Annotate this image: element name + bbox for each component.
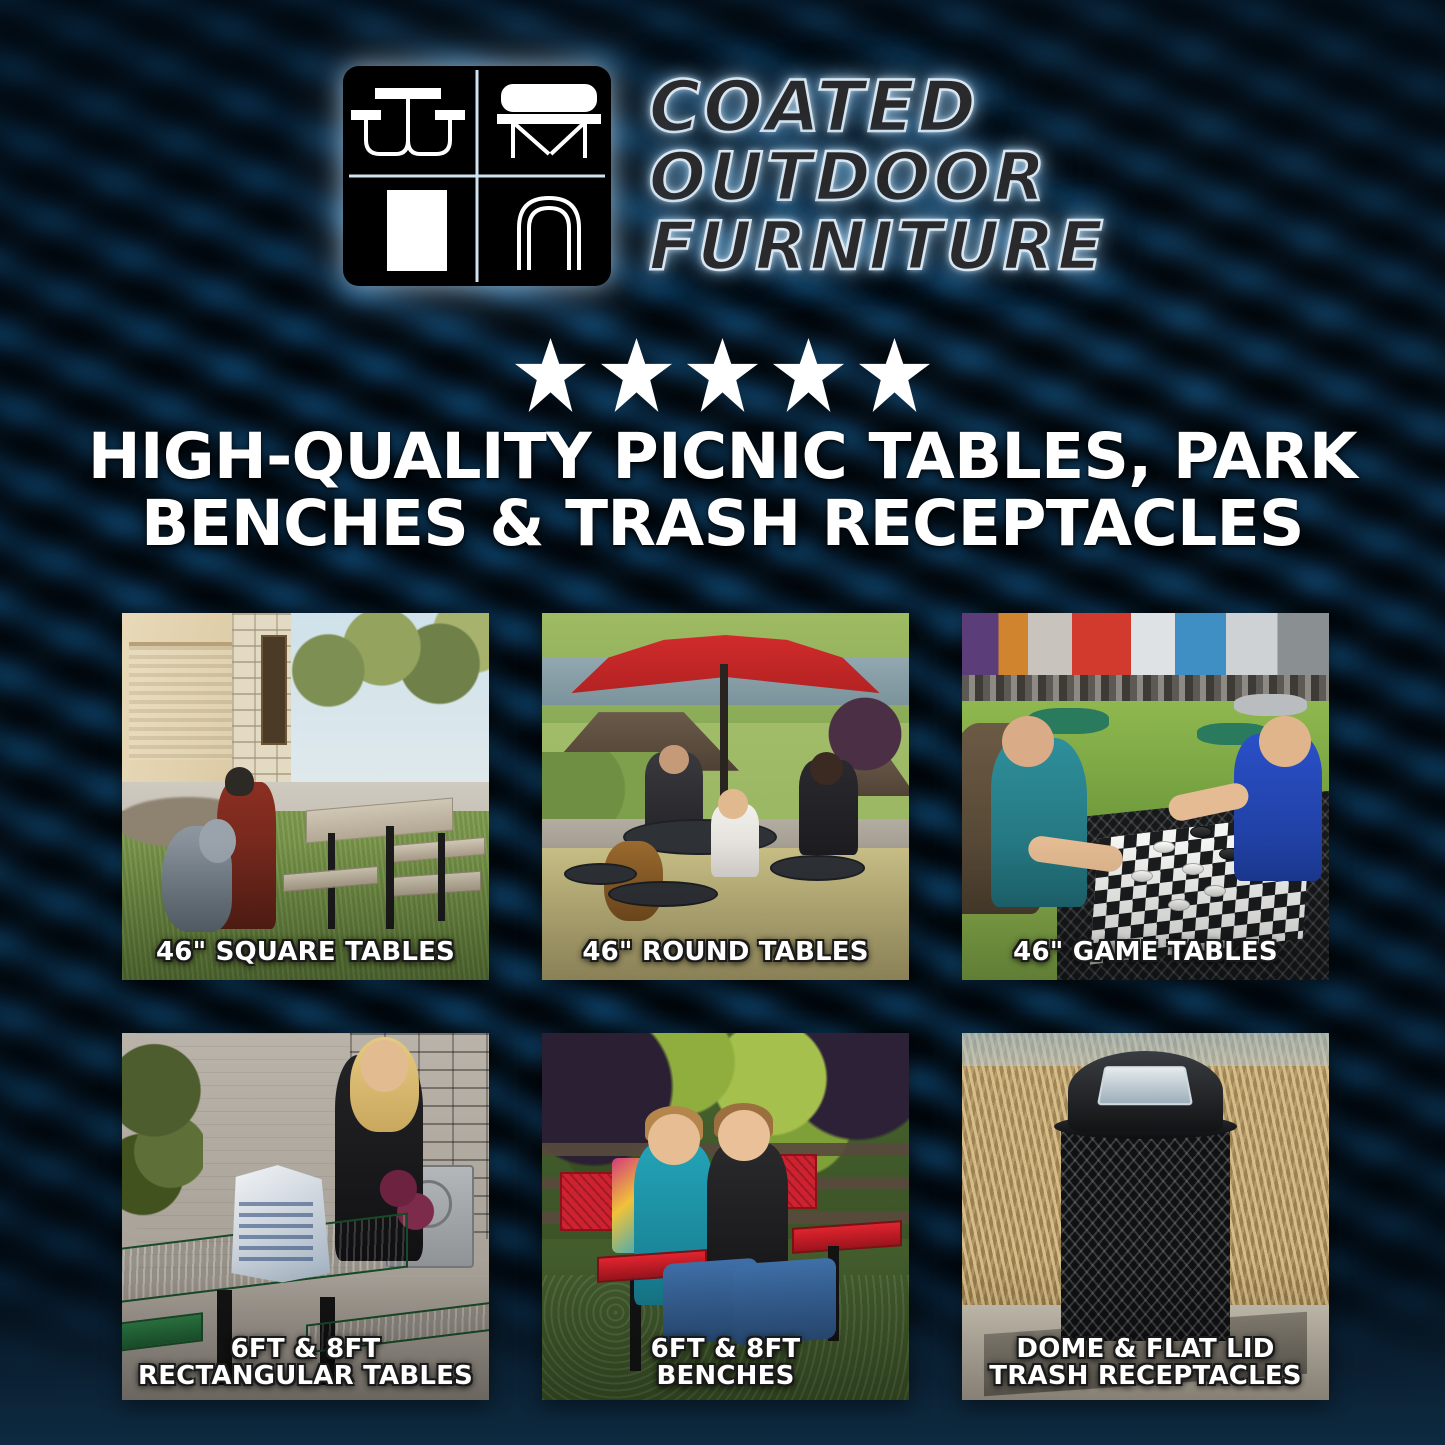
caption-line-2: BENCHES bbox=[542, 1363, 909, 1390]
product-tile-game-tables[interactable]: 46" GAME TABLES bbox=[962, 613, 1329, 980]
caption-line-2: TRASH RECEPTACLES bbox=[962, 1363, 1329, 1390]
brand-logo: COATED OUTDOOR FURNITURE bbox=[0, 62, 1445, 290]
caption-line-1: 46" ROUND TABLES bbox=[542, 939, 909, 966]
tile-caption: 46" SQUARE TABLES bbox=[122, 939, 489, 966]
product-tile-round-tables[interactable]: 46" ROUND TABLES bbox=[542, 613, 909, 980]
photo-round-tables bbox=[542, 613, 909, 980]
tile-caption: 6FT & 8FT RECTANGULAR TABLES bbox=[122, 1336, 489, 1390]
star-icon bbox=[858, 338, 932, 412]
four-quadrant-furniture-icon bbox=[339, 62, 615, 290]
caption-line-2: RECTANGULAR TABLES bbox=[122, 1363, 489, 1390]
page-title: HIGH-QUALITY PICNIC TABLES, PARK BENCHES… bbox=[0, 424, 1445, 558]
tile-caption: 46" GAME TABLES bbox=[962, 939, 1329, 966]
tile-caption: 6FT & 8FT BENCHES bbox=[542, 1336, 909, 1390]
product-grid: 46" SQUARE TABLES 46" ROUND TABLES bbox=[122, 613, 1333, 1400]
tile-caption: DOME & FLAT LID TRASH RECEPTACLES bbox=[962, 1336, 1329, 1390]
headline-line-1: HIGH-QUALITY PICNIC TABLES, PARK bbox=[70, 424, 1375, 491]
caption-line-1: DOME & FLAT LID bbox=[962, 1336, 1329, 1363]
photo-square-tables bbox=[122, 613, 489, 980]
caption-line-1: 6FT & 8FT bbox=[122, 1336, 489, 1363]
wordmark-line-3: FURNITURE bbox=[649, 213, 1106, 279]
caption-line-1: 46" SQUARE TABLES bbox=[122, 939, 489, 966]
star-icon bbox=[514, 338, 588, 412]
wordmark-line-2: OUTDOOR bbox=[649, 144, 1106, 210]
caption-line-1: 6FT & 8FT bbox=[542, 1336, 909, 1363]
product-tile-square-tables[interactable]: 46" SQUARE TABLES bbox=[122, 613, 489, 980]
photo-game-tables bbox=[962, 613, 1329, 980]
product-tile-benches[interactable]: 6FT & 8FT BENCHES bbox=[542, 1033, 909, 1400]
star-icon bbox=[772, 338, 846, 412]
poster-canvas: COATED OUTDOOR FURNITURE HIGH-QUALITY PI… bbox=[0, 0, 1445, 1445]
brand-wordmark: COATED OUTDOOR FURNITURE bbox=[649, 73, 1106, 279]
tile-caption: 46" ROUND TABLES bbox=[542, 939, 909, 966]
star-icon bbox=[600, 338, 674, 412]
product-tile-trash-receptacles[interactable]: DOME & FLAT LID TRASH RECEPTACLES bbox=[962, 1033, 1329, 1400]
caption-line-1: 46" GAME TABLES bbox=[962, 939, 1329, 966]
star-rating bbox=[0, 338, 1445, 412]
product-tile-rectangular-tables[interactable]: 6FT & 8FT RECTANGULAR TABLES bbox=[122, 1033, 489, 1400]
wordmark-line-1: COATED bbox=[649, 73, 1106, 142]
headline-line-2: BENCHES & TRASH RECEPTACLES bbox=[70, 491, 1375, 558]
star-icon bbox=[686, 338, 760, 412]
